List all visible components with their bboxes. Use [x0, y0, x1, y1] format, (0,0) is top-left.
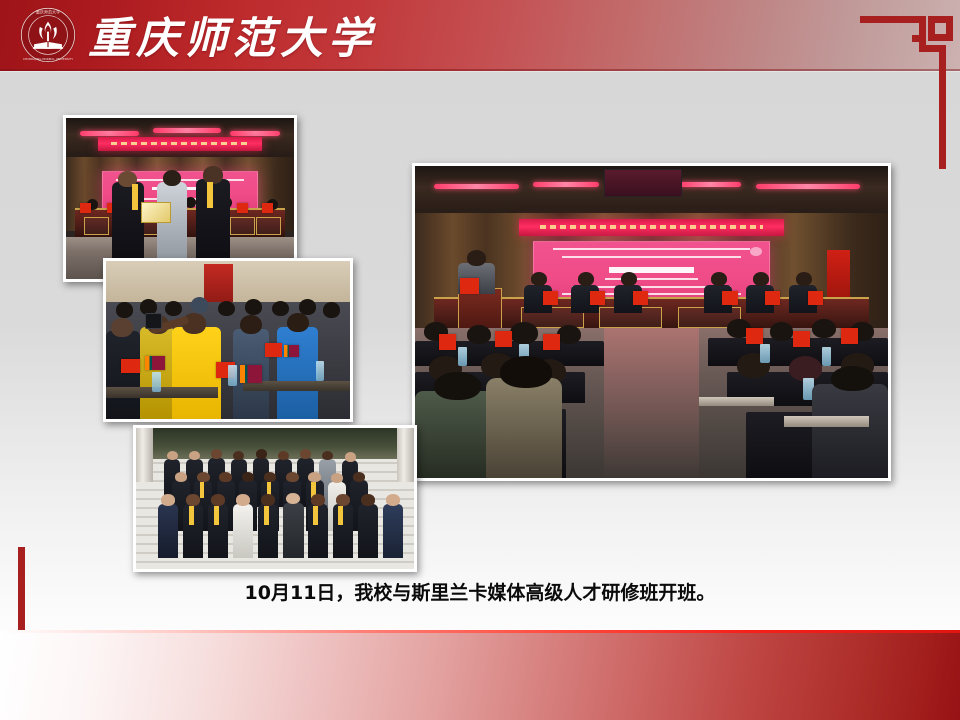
footer-gradient-band	[0, 630, 960, 720]
photo-audience-photographing	[103, 258, 353, 422]
photo-opening-hall-content	[415, 166, 888, 478]
photo-award-ceremony-content	[66, 118, 294, 279]
ceiling-monitor	[604, 169, 682, 196]
svg-text:重庆师范大学: 重庆师范大学	[36, 9, 60, 15]
screen-logo	[750, 247, 762, 256]
aisle-light	[604, 328, 699, 478]
foreground-person-hair	[486, 378, 562, 478]
university-seal-icon: 重庆师范大学 CHONGQING NORMAL UNIVERSITY	[19, 6, 77, 64]
photo-audience-content	[106, 261, 350, 419]
slide-caption: 10月11日，我校与斯里兰卡媒体高级人才研修班开班。	[0, 578, 960, 605]
university-name-title: 重庆师范大学	[88, 4, 376, 66]
photo-group-photo	[133, 425, 417, 572]
smartphone	[145, 313, 162, 329]
foreground-person-right	[812, 384, 888, 478]
photo-opening-hall	[412, 163, 891, 481]
decorative-corner-top-right	[860, 8, 960, 177]
presentation-slide: 重庆师范大学 CHONGQING NORMAL UNIVERSITY	[0, 0, 960, 720]
photo-group-photo-content	[136, 428, 414, 569]
svg-text:CHONGQING NORMAL UNIVERSITY: CHONGQING NORMAL UNIVERSITY	[23, 57, 73, 61]
photo-award-ceremony	[63, 115, 297, 282]
header-banner: 重庆师范大学 CHONGQING NORMAL UNIVERSITY	[0, 0, 960, 71]
